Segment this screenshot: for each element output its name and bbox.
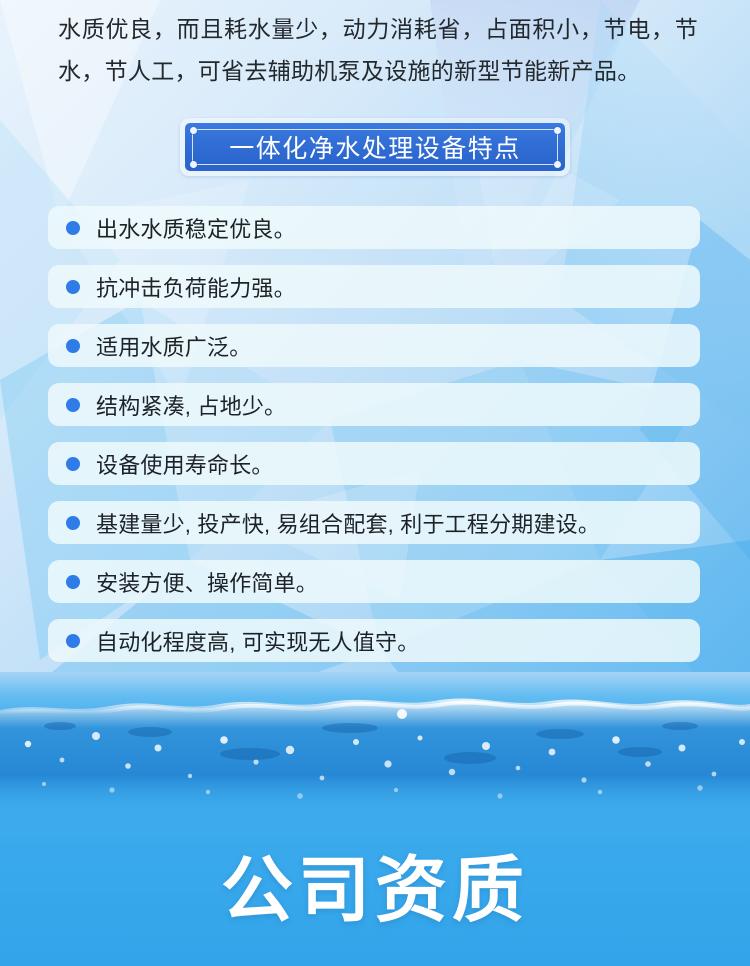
- list-item: 基建量少, 投产快, 易组合配套, 利于工程分期建设。: [48, 501, 700, 544]
- bullet-dot-icon: [66, 457, 80, 471]
- list-item: 抗冲击负荷能力强。: [48, 265, 700, 308]
- bullet-dot-icon: [66, 280, 80, 294]
- banner-corner-dot-bottom-right: [554, 161, 561, 168]
- bullet-dot-icon: [66, 516, 80, 530]
- banner-corner-dot-top-right: [554, 127, 561, 134]
- section-banner-box: 一体化净水处理设备特点: [185, 123, 565, 171]
- bullet-dot-icon: [66, 575, 80, 589]
- list-item: 适用水质广泛。: [48, 324, 700, 367]
- bottom-section-title: 公司资质: [0, 852, 750, 930]
- feature-text: 基建量少, 投产快, 易组合配套, 利于工程分期建设。: [96, 507, 600, 539]
- list-item: 设备使用寿命长。: [48, 442, 700, 485]
- list-item: 安装方便、操作简单。: [48, 560, 700, 603]
- section-banner: 一体化净水处理设备特点: [180, 118, 570, 176]
- feature-text: 结构紧凑, 占地少。: [96, 389, 286, 421]
- list-item: 出水水质稳定优良。: [48, 206, 700, 249]
- feature-text: 设备使用寿命长。: [96, 448, 274, 480]
- banner-corner-dot-bottom-left: [190, 161, 197, 168]
- list-item: 自动化程度高, 可实现无人值守。: [48, 619, 700, 662]
- bullet-dot-icon: [66, 634, 80, 648]
- water-foam-texture: [0, 692, 750, 817]
- promo-page: 水质优良，而且耗水量少，动力消耗省，占面积小，节电，节水，节人工，可省去辅助机泵…: [0, 0, 750, 966]
- intro-paragraph: 水质优良，而且耗水量少，动力消耗省，占面积小，节电，节水，节人工，可省去辅助机泵…: [58, 8, 698, 92]
- section-banner-title: 一体化净水处理设备特点: [229, 129, 521, 165]
- feature-text: 适用水质广泛。: [96, 330, 251, 362]
- banner-corner-dot-top-left: [190, 127, 197, 134]
- feature-text: 自动化程度高, 可实现无人值守。: [96, 625, 419, 657]
- list-item: 结构紧凑, 占地少。: [48, 383, 700, 426]
- bullet-dot-icon: [66, 221, 80, 235]
- bullet-dot-icon: [66, 398, 80, 412]
- bullet-dot-icon: [66, 339, 80, 353]
- feature-text: 安装方便、操作简单。: [96, 566, 318, 598]
- feature-text: 抗冲击负荷能力强。: [96, 271, 296, 303]
- feature-text: 出水水质稳定优良。: [96, 212, 296, 244]
- feature-list: 出水水质稳定优良。 抗冲击负荷能力强。 适用水质广泛。 结构紧凑, 占地少。 设…: [48, 206, 700, 678]
